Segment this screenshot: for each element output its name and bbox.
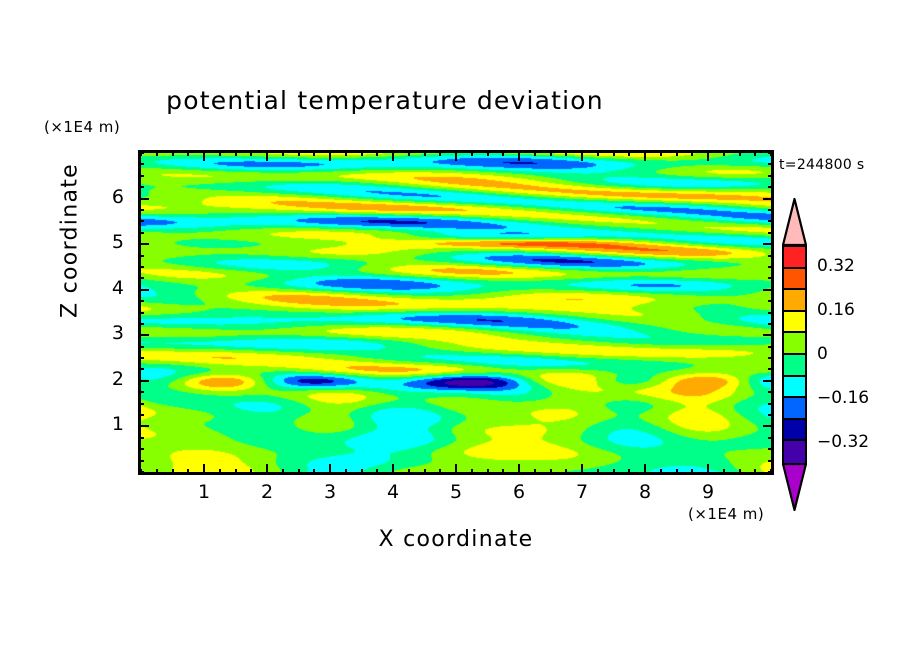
colorbar-band [784,441,805,463]
y-axis-title: Z coordinate [58,151,83,331]
y-tick-label: 2 [98,368,124,390]
colorbar-band [784,333,805,355]
x-tick-label: 6 [499,481,539,503]
colorbar-band [784,269,805,291]
colorbar-band [784,398,805,420]
colorbar-tick-label: 0.16 [817,300,855,320]
x-tick-label: 2 [247,481,287,503]
colorbar-band [784,420,805,442]
colorbar-tick-label: 0 [817,344,828,364]
x-axis-unit-label: (×1E4 m) [688,505,764,523]
page-title: potential temperature deviation [0,86,770,115]
x-tick-label: 9 [688,481,728,503]
colorbar-under-arrow-icon [782,463,807,511]
colorbar-band [784,290,805,312]
colorbar-tick-label: −0.16 [817,388,869,408]
x-tick-label: 1 [184,481,224,503]
colorbar: 0.320.160−0.16−0.32 [779,198,813,513]
x-axis-title: X coordinate [138,527,774,552]
colorbar-band [784,377,805,399]
contour-plot-area [138,150,774,475]
y-tick-label: 6 [98,186,124,208]
time-stamp-label: t=244800 s [779,157,864,173]
colorbar-band [784,355,805,377]
colorbar-tick-label: 0.32 [817,256,855,276]
y-tick-label: 1 [98,413,124,435]
x-tick-label: 5 [436,481,476,503]
x-tick-label: 8 [625,481,665,503]
z-axis-unit-label: (×1E4 m) [44,118,120,136]
x-tick-label: 4 [373,481,413,503]
colorbar-band [784,247,805,269]
x-tick-label: 7 [562,481,602,503]
colorbar-over-arrow-icon [782,198,807,246]
contour-field-canvas [141,153,771,472]
colorbar-band [784,312,805,334]
x-tick-label: 3 [310,481,350,503]
y-tick-label: 3 [98,322,124,344]
y-tick-label: 5 [98,231,124,253]
colorbar-bands [782,245,807,465]
colorbar-tick-label: −0.32 [817,432,869,452]
y-tick-label: 4 [98,277,124,299]
